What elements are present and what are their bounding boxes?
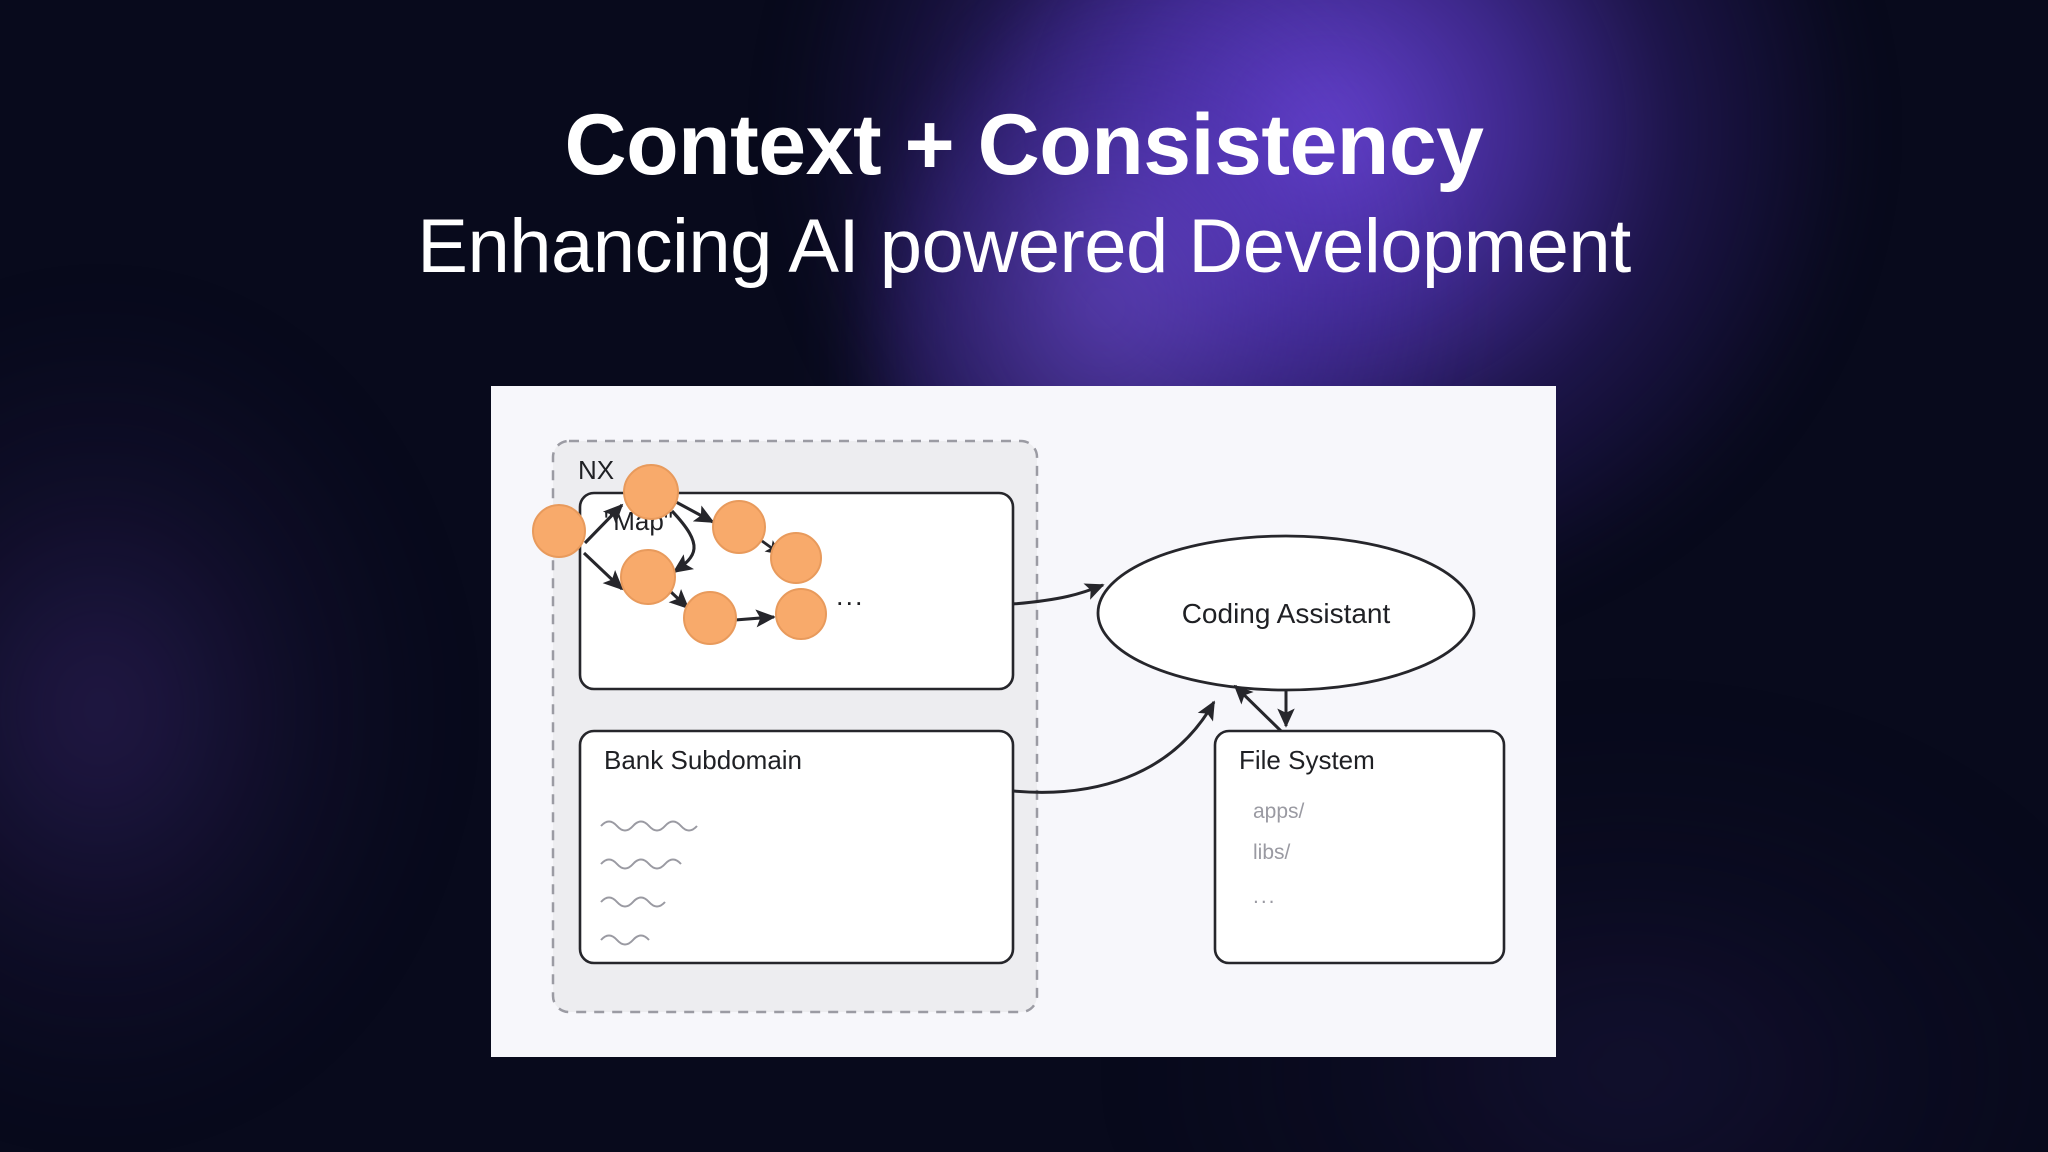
architecture-diagram: NX "Map": [491, 386, 1556, 1057]
file-system-entry-more: ...: [1253, 885, 1277, 908]
slide-subtitle: Enhancing AI powered Development: [0, 206, 2048, 288]
graph-node-n2: [624, 465, 678, 519]
diagram-card: NX "Map": [491, 386, 1556, 1057]
connector-filesystem-to-assistant: [1235, 686, 1281, 731]
slide-title: Context + Consistency: [0, 100, 2048, 190]
coding-assistant-label: Coding Assistant: [1182, 598, 1391, 629]
heading-group: Context + Consistency Enhancing AI power…: [0, 0, 2048, 288]
bank-subdomain-label: Bank Subdomain: [604, 745, 802, 775]
background-glow-left: [0, 330, 410, 1090]
graph-node-n4: [621, 550, 675, 604]
nx-label: NX: [578, 455, 614, 485]
map-ellipsis: ...: [836, 581, 865, 611]
graph-node-n3: [713, 501, 765, 553]
graph-node-n5: [684, 592, 736, 644]
graph-node-n6: [771, 533, 821, 583]
connector-bank-to-assistant: [1013, 702, 1214, 792]
file-system-entry-libs: libs/: [1253, 841, 1291, 864]
file-system-label: File System: [1239, 745, 1375, 775]
graph-node-n7: [776, 589, 826, 639]
bank-subdomain-box: Bank Subdomain: [580, 731, 1013, 963]
file-system-box: File System apps/ libs/ ...: [1215, 731, 1504, 963]
file-system-entry-apps: apps/: [1253, 800, 1305, 823]
slide-root: Context + Consistency Enhancing AI power…: [0, 0, 2048, 1152]
coding-assistant-node: Coding Assistant: [1098, 536, 1474, 690]
graph-node-n1: [533, 505, 585, 557]
map-box: "Map": [533, 465, 1013, 689]
